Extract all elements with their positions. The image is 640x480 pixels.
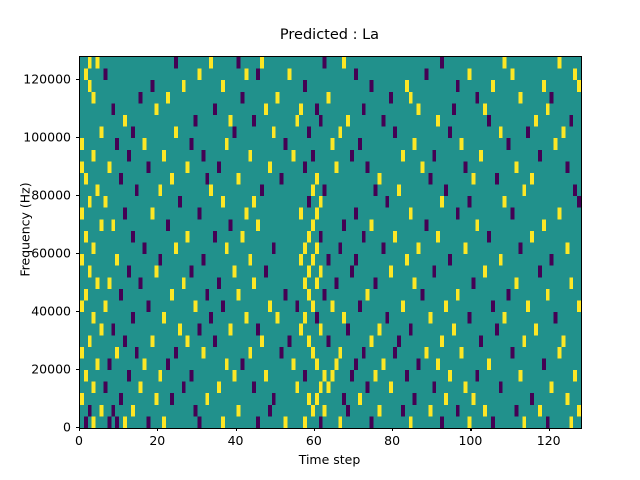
y-axis-tick-labels: 020000400006000080000100000120000 (0, 0, 71, 480)
x-tick-label: 0 (75, 433, 83, 448)
x-tick-mark (314, 428, 315, 432)
x-tick-label: 60 (306, 433, 322, 448)
x-tick-mark (79, 428, 80, 432)
chart-title: Predicted : La (79, 27, 580, 43)
x-tick-mark (392, 428, 393, 432)
x-axis-label: Time step (79, 452, 580, 467)
x-tick-label: 120 (537, 433, 561, 448)
x-tick-mark (549, 428, 550, 432)
y-tick-label: 20000 (31, 362, 71, 377)
x-tick-mark (157, 428, 158, 432)
y-tick-label: 60000 (31, 246, 71, 261)
x-tick-label: 20 (149, 433, 165, 448)
x-tick-mark (236, 428, 237, 432)
y-tick-label: 40000 (31, 304, 71, 319)
y-tick-label: 100000 (23, 130, 71, 145)
x-tick-label: 80 (384, 433, 400, 448)
y-tick-label: 80000 (31, 188, 71, 203)
x-tick-mark (470, 428, 471, 432)
x-tick-label: 40 (228, 433, 244, 448)
matplotlib-figure: Predicted : La Frequency (Hz) 0200004000… (0, 0, 640, 480)
heatmap-image (80, 57, 581, 428)
y-tick-label: 120000 (23, 72, 71, 87)
heatmap-plot-area (79, 56, 582, 429)
x-tick-label: 100 (458, 433, 482, 448)
y-tick-label: 0 (63, 420, 71, 435)
